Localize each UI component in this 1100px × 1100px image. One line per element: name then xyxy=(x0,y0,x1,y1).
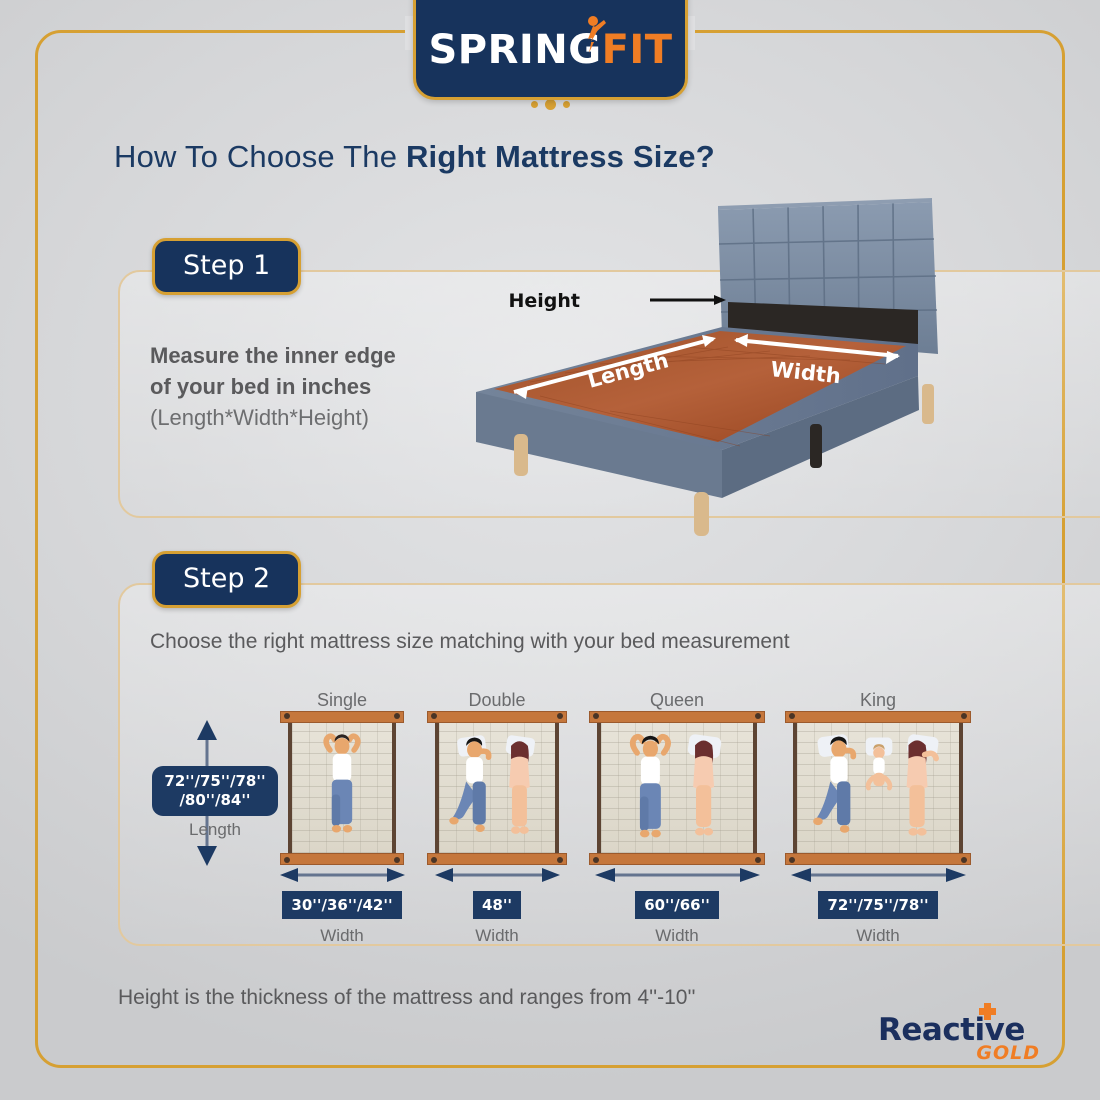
width-arrow-king xyxy=(791,867,966,883)
mattress-double xyxy=(435,723,559,853)
size-name-queen: Queen xyxy=(582,690,772,711)
page-title-plain: How To Choose The xyxy=(114,139,406,174)
width-arrow-queen xyxy=(595,867,760,883)
width-arrow-single xyxy=(280,867,405,883)
reactive-logo-secondary: GOLD xyxy=(976,1042,1040,1064)
step1-badge: Step 1 xyxy=(152,238,301,295)
bed-illustration: Length Width Height xyxy=(470,196,990,536)
mattress-size-grid: 72''/75''/78'' /80''/84'' Length Single xyxy=(150,690,1090,940)
footnote-text: Height is the thickness of the mattress … xyxy=(118,986,695,1010)
width-value-single: 30''/36''/42'' xyxy=(282,891,401,919)
bed-leg xyxy=(810,424,822,468)
width-label-queen: Width xyxy=(582,926,772,946)
width-value-queen: 60''/66'' xyxy=(635,891,719,919)
bed-leg xyxy=(922,384,934,424)
step1-line3: (Length*Width*Height) xyxy=(150,402,480,433)
bed-height-label: Height xyxy=(508,290,580,312)
springfit-logo: SPRINGFIT xyxy=(413,0,688,100)
plus-cross-icon xyxy=(979,1003,996,1020)
width-arrow-double xyxy=(435,867,560,883)
step1-line2: of your bed in inches xyxy=(150,371,480,402)
size-column-single: Single xyxy=(272,690,412,946)
size-column-double: Double xyxy=(422,690,572,946)
mattress-single xyxy=(288,723,396,853)
step1-line1: Measure the inner edge xyxy=(150,340,480,371)
width-label-single: Width xyxy=(272,926,412,946)
step2-badge: Step 2 xyxy=(152,551,301,608)
length-value-badge: 72''/75''/78'' /80''/84'' xyxy=(152,766,277,816)
decorative-dots xyxy=(0,99,1100,110)
family-king-icon xyxy=(797,723,959,853)
couple-double-icon xyxy=(439,723,555,853)
size-column-king: King xyxy=(778,690,978,946)
mattress-queen xyxy=(597,723,757,853)
width-label-double: Width xyxy=(422,926,572,946)
page-title-bold: Right Mattress Size? xyxy=(406,139,715,174)
logo-text-fit: FIT xyxy=(602,27,673,73)
size-name-double: Double xyxy=(422,690,572,711)
step2-instructions: Choose the right mattress size matching … xyxy=(150,627,910,657)
width-value-double: 48'' xyxy=(473,891,521,919)
step1-instructions: Measure the inner edge of your bed in in… xyxy=(150,340,480,433)
page-title: How To Choose The Right Mattress Size? xyxy=(114,139,715,175)
length-dimension: 72''/75''/78'' /80''/84'' Length xyxy=(150,708,280,782)
reactive-gold-logo: Reactive GOLD xyxy=(878,1012,1048,1068)
size-name-single: Single xyxy=(272,690,412,711)
couple-queen-icon xyxy=(601,723,753,853)
width-value-king: 72''/75''/78'' xyxy=(818,891,937,919)
length-label: Length xyxy=(150,820,280,840)
runner-figure-icon xyxy=(580,15,606,55)
length-value-line2: /80''/84'' xyxy=(179,791,250,809)
length-value-line1: 72''/75''/78'' xyxy=(164,772,265,790)
person-single-icon xyxy=(292,723,392,853)
mattress-king xyxy=(793,723,963,853)
size-name-king: King xyxy=(778,690,978,711)
size-column-queen: Queen xyxy=(582,690,772,946)
width-label-king: Width xyxy=(778,926,978,946)
bed-leg xyxy=(514,434,528,476)
bed-leg xyxy=(694,492,709,536)
logo-text-spring: SPRING xyxy=(428,27,601,73)
